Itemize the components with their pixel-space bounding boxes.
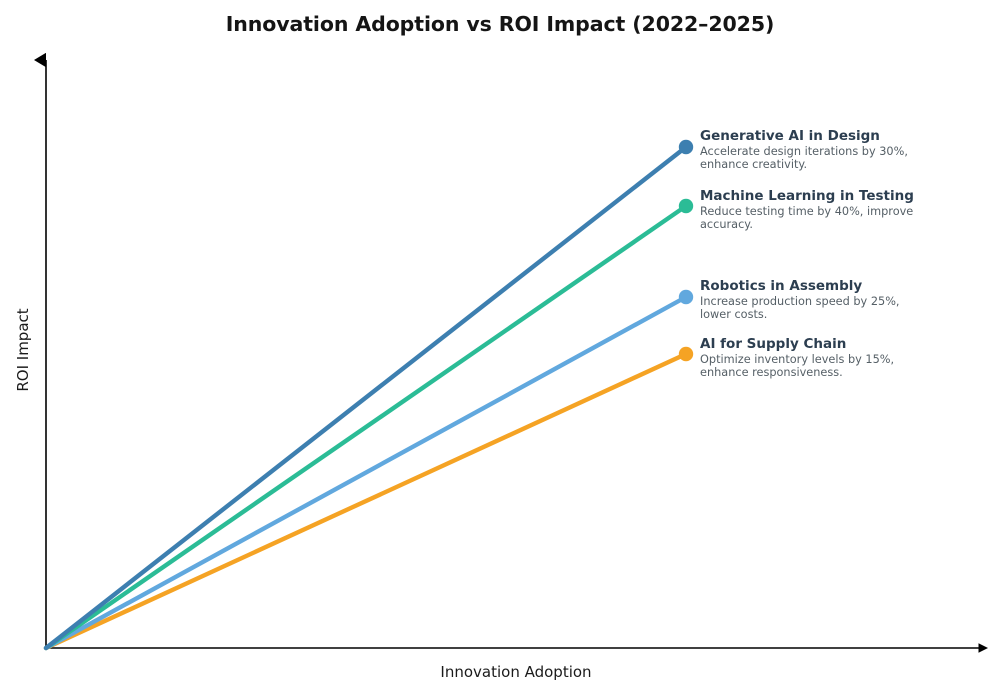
endpoint-marker-machine-learning-in-testing[interactable] — [679, 199, 693, 213]
annotation-title: Robotics in Assembly — [700, 278, 1000, 294]
x-axis-label: Innovation Adoption — [326, 663, 706, 681]
y-axis-label: ROI Impact — [14, 270, 32, 430]
endpoint-marker-ai-for-supply-chain[interactable] — [679, 347, 693, 361]
series-line-robotics-in-assembly — [46, 297, 686, 648]
annotation-title: AI for Supply Chain — [700, 336, 1000, 352]
series-line-machine-learning-in-testing — [46, 206, 686, 648]
endpoint-marker-generative-ai-in-design[interactable] — [679, 140, 693, 154]
annotation-description: Optimize inventory levels by 15%, enhanc… — [700, 353, 918, 380]
annotation-title: Generative AI in Design — [700, 128, 1000, 144]
annotation-machine-learning-in-testing[interactable]: Machine Learning in Testing Reduce testi… — [700, 188, 1000, 232]
annotation-generative-ai-in-design[interactable]: Generative AI in Design Accelerate desig… — [700, 128, 1000, 172]
annotation-description: Increase production speed by 25%, lower … — [700, 295, 918, 322]
endpoint-marker-robotics-in-assembly[interactable] — [679, 290, 693, 304]
annotation-ai-for-supply-chain[interactable]: AI for Supply Chain Optimize inventory l… — [700, 336, 1000, 380]
series-lines — [46, 147, 686, 648]
series-endpoint-markers — [679, 140, 693, 361]
annotation-description: Accelerate design iterations by 30%, enh… — [700, 145, 918, 172]
annotation-description: Reduce testing time by 40%, improve accu… — [700, 205, 918, 232]
annotation-robotics-in-assembly[interactable]: Robotics in Assembly Increase production… — [700, 278, 1000, 322]
chart-container: Innovation Adoption vs ROI Impact (2022–… — [0, 0, 1000, 700]
annotation-title: Machine Learning in Testing — [700, 188, 1000, 204]
